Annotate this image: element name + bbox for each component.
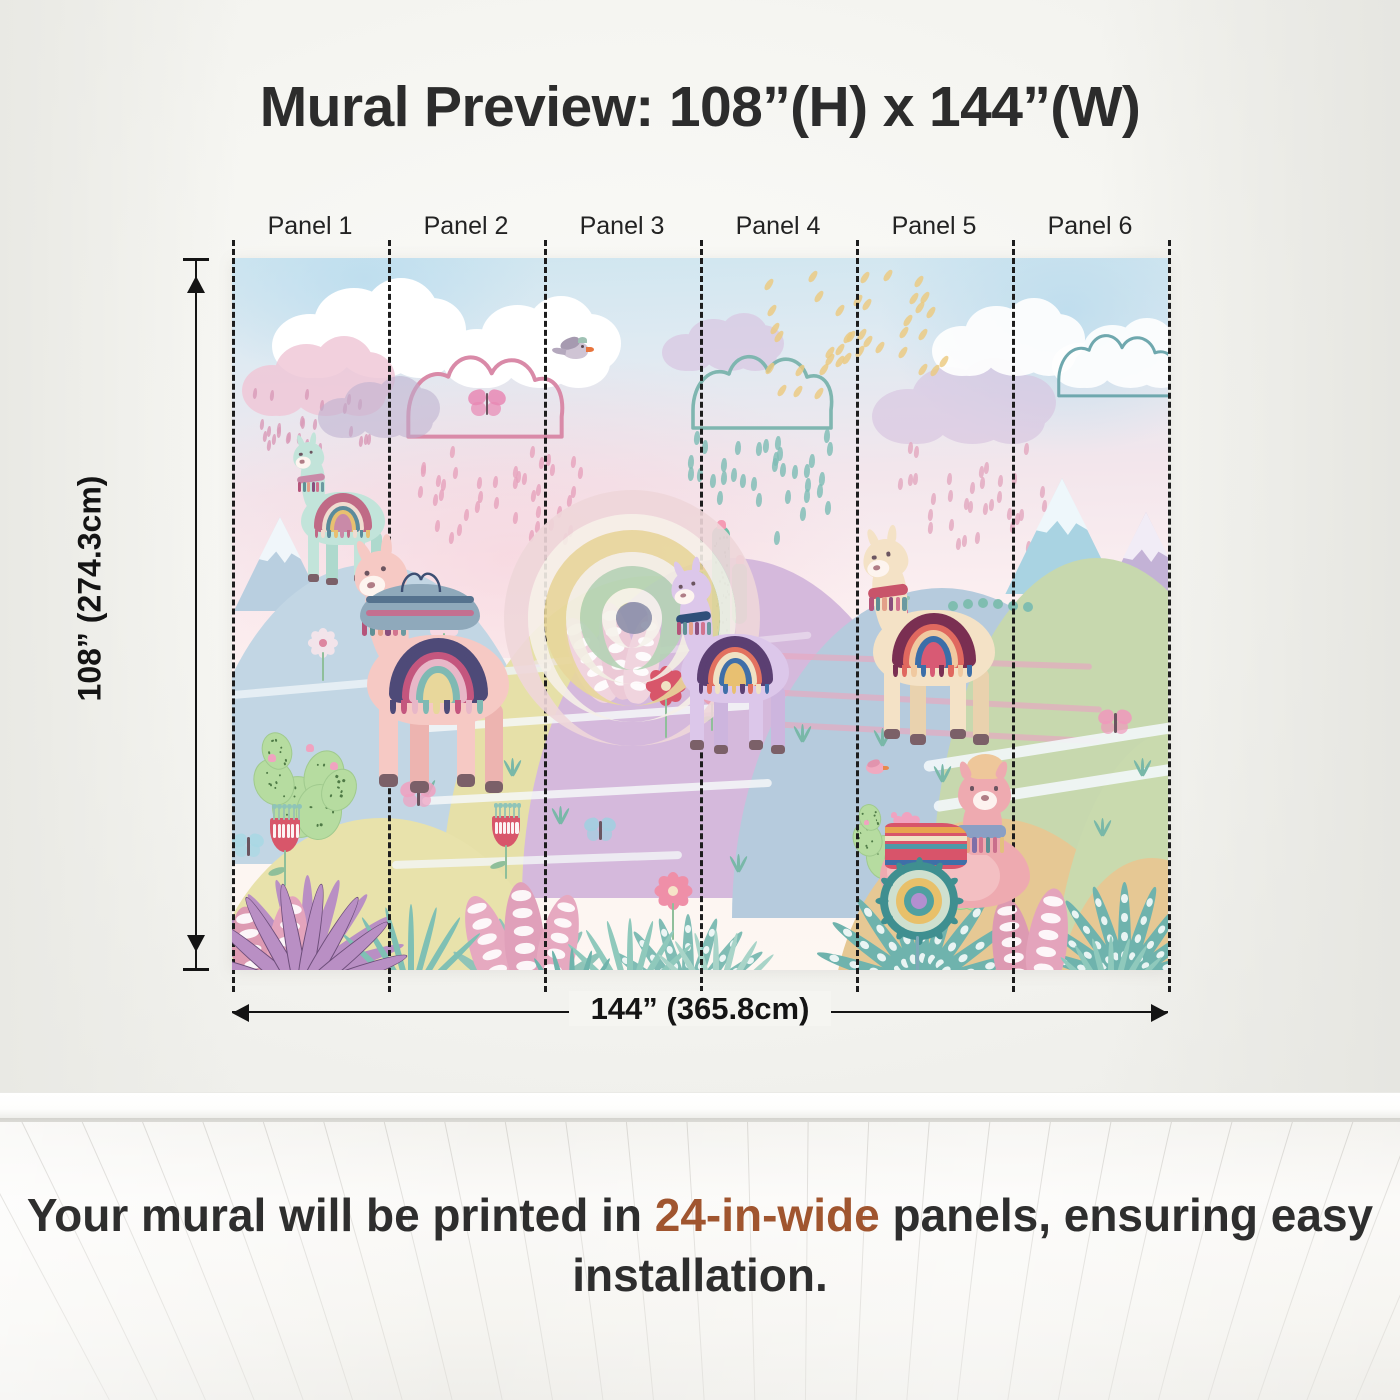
agave-leaf-spot [940,965,952,970]
rain-drop [984,462,990,474]
leaf-spot [482,947,503,962]
rain-drop [777,446,783,460]
llama-collar-tassel [889,597,893,612]
tulip-petal-dot [273,824,276,838]
tulip-petal-dot [503,822,506,835]
rain-drop [804,488,810,502]
tulip-stamen [518,807,520,818]
rain-drop [530,446,536,458]
leaf-spot [466,901,487,916]
cactus-spine [329,794,332,797]
llama-nose [300,460,305,464]
fan-blade [1108,936,1114,970]
flower-round-cactus-bloom [656,874,690,908]
sitting-blanket-band [885,827,968,833]
rain-drop [312,419,317,430]
agave-purple-front [232,876,372,970]
blanket-fringe [321,530,325,538]
rain-drop [825,501,831,515]
butterfly-wing-lower-right [1115,721,1128,734]
cloud-lobe [390,405,433,438]
page-title: Mural Preview: 108”(H) x 144”(W) [0,74,1400,140]
rain-drop [756,442,762,456]
blanket-fringe [423,700,429,714]
bird [554,336,598,364]
rain-drop [912,473,918,485]
blanket-fringe [401,700,407,714]
rain-drop [874,340,886,354]
flower-center [319,639,327,647]
tulip-stamen-tip [297,804,302,809]
mandala-stem [916,936,919,970]
panel-label-1: Panel 1 [230,212,390,241]
cactus-spine [867,847,869,849]
rain-drop [898,325,910,339]
flower-stem [322,652,324,681]
height-arrow-up-icon [187,276,205,293]
agave-leaf-spot [862,907,873,919]
rain-drop [947,473,953,485]
blanket-fringe [930,665,935,677]
saddle-pack-handle-icon [398,568,444,594]
tulip-cup [492,816,520,847]
rain-drop [927,521,933,533]
height-dimension-label: 108” (274.3cm) [72,439,109,739]
rain-drop [948,490,954,502]
rain-drop [260,419,265,430]
butterfly-body [599,821,601,840]
leaf-spot [1038,929,1058,942]
sitting-blanket-band [885,844,968,850]
llama-sitting-eye-right [994,786,999,791]
rain-drop [435,520,441,532]
butterfly-body [247,837,249,856]
rain-drop [1024,443,1030,455]
agave-leaf-spot [1121,894,1127,903]
fan-grass-3 [668,930,764,970]
llama-hoof [950,729,966,740]
tulip-petal-dot [507,822,510,835]
fan-blade [569,948,575,970]
blanket-fringe [412,700,418,714]
rain-drop [570,456,576,468]
blanket-fringe [366,530,370,538]
rain-drop [816,484,822,498]
grass-tuft [1132,758,1152,776]
blanket-fringe [477,700,483,714]
fan-blade [713,940,759,970]
butterfly-wing-lower-left [471,402,485,416]
llama-collar-tassel [298,482,301,492]
rain-drop [452,466,458,478]
agave-leaf-spot [1140,916,1149,926]
leaf-spot [1033,962,1053,970]
llama-sitting-head [958,770,1011,816]
llama-hoof [410,781,429,793]
rain-drop [818,363,830,377]
tulip-petal-dot [515,822,518,835]
blanket-fringe [967,665,972,677]
agave-leaf-spot [868,967,880,970]
height-dimension-line [195,258,197,970]
llama-saddle-pack [360,576,480,630]
tulip-stamen [278,808,280,820]
rain-drop [763,278,775,292]
llama-collar-tassel [896,597,900,612]
rain-drop [791,465,797,479]
cactus-spine [337,780,340,783]
leaf-spot [513,907,533,919]
leaf-spot [556,900,576,913]
footer-caption: Your mural will be printed in 24-in-wide… [0,1186,1400,1306]
llama-sitting-tassel [993,837,998,853]
llama-hoof [485,781,504,793]
tulip-petal-dot [278,824,281,838]
cactus-spine [309,806,312,809]
cactus-spine [282,795,285,798]
tulip-petal-dot [511,822,514,835]
panel-label-3: Panel 3 [542,212,702,241]
cactus-spine [265,772,268,775]
llama-nose [873,565,880,570]
blanket-fringe [715,684,720,695]
tulip-red-center [492,816,523,880]
tulip-petal-dot [287,824,290,838]
rain-drop [902,313,914,327]
leaf-spot [550,932,570,945]
cactus-flower [330,762,338,770]
fan-grass-5 [1068,936,1154,970]
panel-label-6: Panel 6 [1010,212,1170,241]
rain-drop [304,389,309,400]
agave-leaf-spot [1157,925,1167,936]
llama-collar-tassel [707,622,711,635]
rain-drop [785,489,791,503]
llama-collar-tassel [876,597,880,612]
rain-drop [930,492,936,504]
blanket-fringe [433,700,439,714]
llama-hoof [690,740,704,749]
llama-sitting-tassel [986,837,991,853]
cactus-flower [306,744,314,752]
blanket-fringe [723,684,728,695]
cactus-spine [316,824,319,827]
agave-leaf-spot [957,952,969,963]
butterfly-body [1114,713,1117,733]
flower-small-left [310,630,336,656]
leaf-spot [514,925,534,937]
mandala-petal [951,898,964,905]
llama-hoof [326,578,337,585]
rain-drop [948,519,954,531]
mandala-petal [876,898,889,905]
rain-drop [833,343,845,357]
rain-drop [827,441,833,455]
leaf-spot [1006,968,1026,970]
rain-drop [456,524,462,536]
tulip-stamen [499,807,501,818]
agave-leaf-spot [887,941,898,953]
rain-drop [474,501,480,513]
llama-tan [852,536,1010,747]
rainbow-band [616,602,652,634]
blanket-fringe [740,684,745,695]
leaf-spot [471,916,492,931]
llama-hoof [771,745,785,754]
cactus-spine [877,822,879,824]
butterfly-wing-lower-right [248,844,260,856]
blanket-fringe [958,665,963,677]
cactus-spine [862,812,864,814]
rain-golden [762,268,942,388]
rain-drop [925,306,937,320]
rain-drop [907,442,913,454]
cactus-spine [874,814,876,816]
rain-drop [449,446,455,458]
height-arrow-down-icon [187,935,205,952]
height-tick-top [183,258,209,261]
llama-sitting-tassel [979,837,984,853]
tulip-stamen [273,808,275,820]
llama-collar-tassel [321,482,324,492]
llama-hoof [308,574,319,581]
mandala-petal [916,857,923,870]
bird-eye [581,345,584,348]
llama-hoof [749,740,763,749]
grass-tuft [728,854,748,872]
butterfly-pink-right [1098,710,1132,736]
rain-drop [464,509,470,521]
butterfly-wing-lower-left [587,828,599,840]
tulip-stamen [293,808,295,820]
llama-eye-left [871,554,876,559]
agave-leaf-spot [858,940,870,951]
tulip-petal-dot [296,824,299,838]
llama-hoof [457,774,476,786]
llama-sitting-eye-left [970,786,975,791]
cactus-spine [322,763,325,766]
fan-blade [627,918,633,970]
blanket-fringe [911,665,916,677]
llama-sitting-tassel [1000,837,1005,853]
fan-blade [408,904,414,970]
cloud-grey-1 [318,376,438,438]
butterfly-pink-top [468,390,505,419]
llama-muzzle [674,588,696,607]
fan-grass-4 [526,948,618,970]
tulip-stamen [504,807,506,818]
cactus-spine [316,763,319,766]
cactus-spine [275,781,278,784]
cloud-outline-teal-2 [1032,330,1168,406]
panel-label-5: Panel 5 [854,212,1014,241]
llama-hoof [910,734,926,745]
llama-collar-tassel [677,622,681,635]
cactus-spine [279,751,282,754]
butterfly-blue-center [584,818,616,843]
cactus-spine [293,795,296,798]
blanket-fringe [455,700,461,714]
rain-drop [861,297,873,311]
tulip-stamen [298,808,300,820]
tulip-stamen-tip [503,803,508,808]
llama-eye-right [692,581,697,586]
agave-leaf-spot [946,941,957,953]
wall-shadow-left [0,0,240,1098]
rain-drop [969,482,975,494]
grass-tuft [550,806,570,824]
cactus-spine [280,746,283,749]
rain-drop [809,454,815,468]
mandala-center [911,893,927,909]
leaf-spot [553,916,573,929]
llama-lilac [662,568,804,757]
rain-drop [806,270,818,284]
bird-small-pink [862,758,892,778]
cactus-spine [337,786,340,789]
tulip-petal-dot [499,822,502,835]
rain-drop [916,327,928,341]
leaf-spot [487,963,508,970]
rain-drop [269,390,274,401]
cactus-spine [271,739,274,742]
agave-leaf-spot [841,928,853,939]
agave-leaf-spot [1146,898,1155,908]
cactus-spine [278,774,281,777]
agave-leaf-spot [1121,913,1127,922]
saddle-pack-stripe-2 [366,610,474,616]
rain-drop [252,387,257,398]
rain-drop [421,465,427,477]
llama-collar-tassel [701,622,705,635]
rain-drop [440,479,446,491]
width-dimension-label: 144” (365.8cm) [0,991,1400,1027]
rain-drop [734,441,740,455]
cactus-flower [864,820,870,826]
tulip-stamen [288,808,290,820]
llama-hoof [714,745,728,754]
tulip-petal-dot [282,824,285,838]
llama-collar-tassel [303,482,306,492]
agave-leaf-spot [1100,916,1109,926]
rain-drop [766,303,778,317]
rain-drop [763,439,769,453]
rain-drop [967,500,973,512]
rain-drop [927,509,933,521]
blanket-fringe [353,530,357,538]
blanket-fringe [390,700,396,714]
grass-tuft [1092,818,1112,836]
agave-leaf-spot [974,940,986,951]
tulip-stamen [283,808,285,820]
agave-leaf-spot [958,924,969,936]
blanket-fringe [334,530,338,538]
bird-beak [586,347,594,352]
blanket-fringe [948,665,953,677]
cactus-flower [268,754,276,762]
rain-drop [267,426,272,437]
llama-hoof [379,774,398,786]
blanket-fringe [707,684,712,695]
llama-eye-right [309,451,312,454]
cloud-outline-path [1032,330,1168,406]
butterfly-wing-lower-left [235,844,247,856]
cactus-spine [335,775,338,778]
rain-drop [813,289,825,303]
rain-drop [983,503,989,515]
blanket-fringe [466,700,472,714]
bead [1023,602,1033,612]
rain-drop [687,455,693,469]
caption-accent: 24-in-wide [655,1189,880,1241]
butterfly-wing-lower-right [487,402,501,416]
rain-drop [989,499,995,511]
agave-leaf-spot [1071,909,1081,920]
rain-drop [764,361,776,375]
llama-sitting-tassel [972,837,977,853]
rain-drop [917,362,929,376]
llama-collar-tassel [882,597,886,612]
agave-leaf-spot [1095,898,1104,908]
cloud-lobe [328,408,369,438]
mural-edge-line [1168,240,1171,992]
fan-blade [713,930,719,970]
cactus-spine [875,811,877,813]
blanket-fringe [327,530,331,538]
sitting-blanket-band [885,836,968,842]
tulip-stamen [513,807,515,818]
caption-before: Your mural will be printed in [27,1189,655,1241]
leaf-spot [999,920,1019,932]
llama-collar-tassel [695,622,699,635]
llama-collar-tassel [689,622,693,635]
llama-eye-right [381,565,387,571]
butterfly-wing-lower-left [1101,721,1114,734]
blanket-fringe [340,530,344,538]
agave-leaf-spot [829,954,841,964]
bird-crest [578,337,587,343]
leaf-spot [511,890,531,902]
saddle-pack-stripe-1 [366,596,474,603]
rain-drop [794,363,806,377]
agave-leaf-spot [1082,925,1092,936]
rain-drop [799,507,805,521]
cactus-spine [320,823,323,826]
cactus-spine [871,841,873,843]
bird-small-beak [883,766,889,770]
agave-leaf-spot [875,952,887,963]
rain-drop [913,274,925,288]
rain-drop [919,290,931,304]
llama-collar-tassel [307,482,310,492]
tulip-petal-dot [495,822,498,835]
rain-drop [896,345,908,359]
tulip-stamen-tip [517,803,522,808]
llama-eye-left [299,453,302,456]
tulip-petal-dot [291,824,294,838]
height-tick-bottom [183,968,209,971]
llama-collar-tassel [869,597,873,612]
rain-drop [979,477,985,489]
panel-label-4: Panel 4 [698,212,858,241]
blanket-fringe [921,665,926,677]
rain-drop [417,486,423,498]
cactus-spine [274,786,277,789]
leaf-spot [1036,946,1056,959]
panel-label-2: Panel 2 [386,212,546,241]
rain-drop [882,269,894,283]
tulip-stamen [495,807,497,818]
